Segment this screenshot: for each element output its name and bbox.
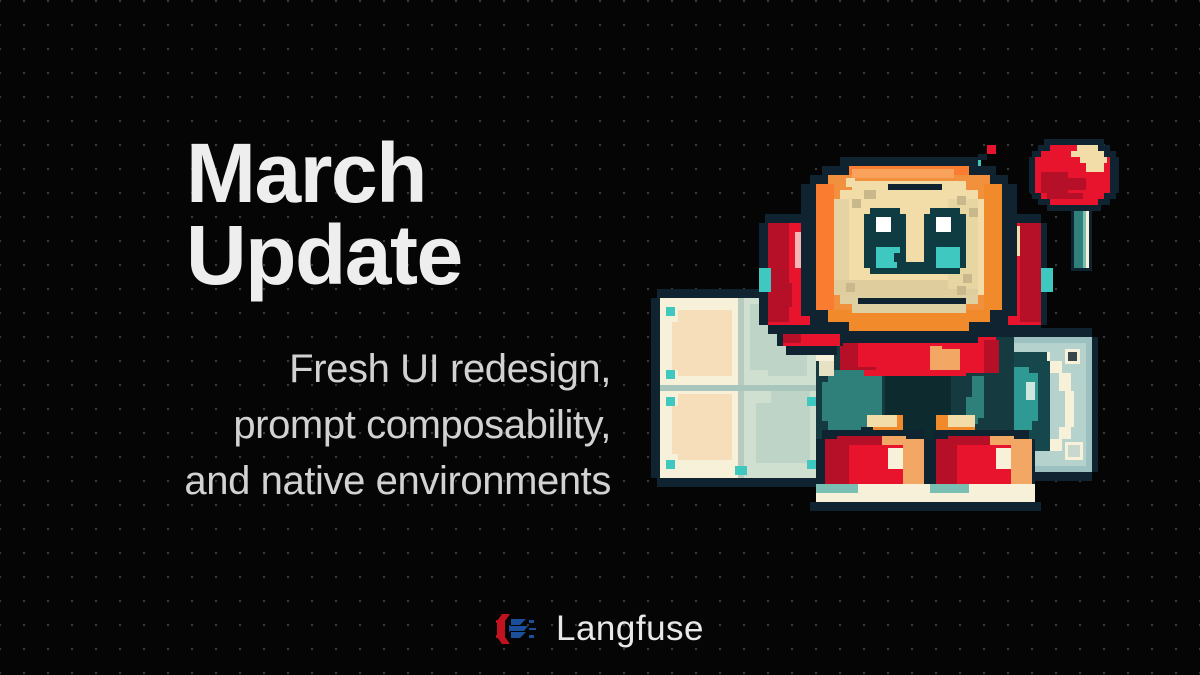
- page-title: March Update: [0, 132, 614, 297]
- subtitle-line-3: and native environments: [0, 453, 611, 509]
- headline-line-1: March: [186, 126, 426, 220]
- pixel-art-robot-illustration: [648, 118, 1128, 520]
- promo-canvas: March Update Fresh UI redesign, prompt c…: [0, 0, 1200, 675]
- headline-line-2: Update: [186, 214, 614, 296]
- brand-name: Langfuse: [556, 609, 704, 649]
- text-block: March Update Fresh UI redesign, prompt c…: [0, 0, 614, 509]
- subtitle-line-2: prompt composability,: [0, 397, 611, 453]
- subtitle-line-1: Fresh UI redesign,: [0, 341, 611, 397]
- subtitle: Fresh UI redesign, prompt composability,…: [0, 341, 614, 509]
- langfuse-logo-icon: [496, 612, 538, 646]
- brand-lockup: Langfuse: [0, 609, 1200, 649]
